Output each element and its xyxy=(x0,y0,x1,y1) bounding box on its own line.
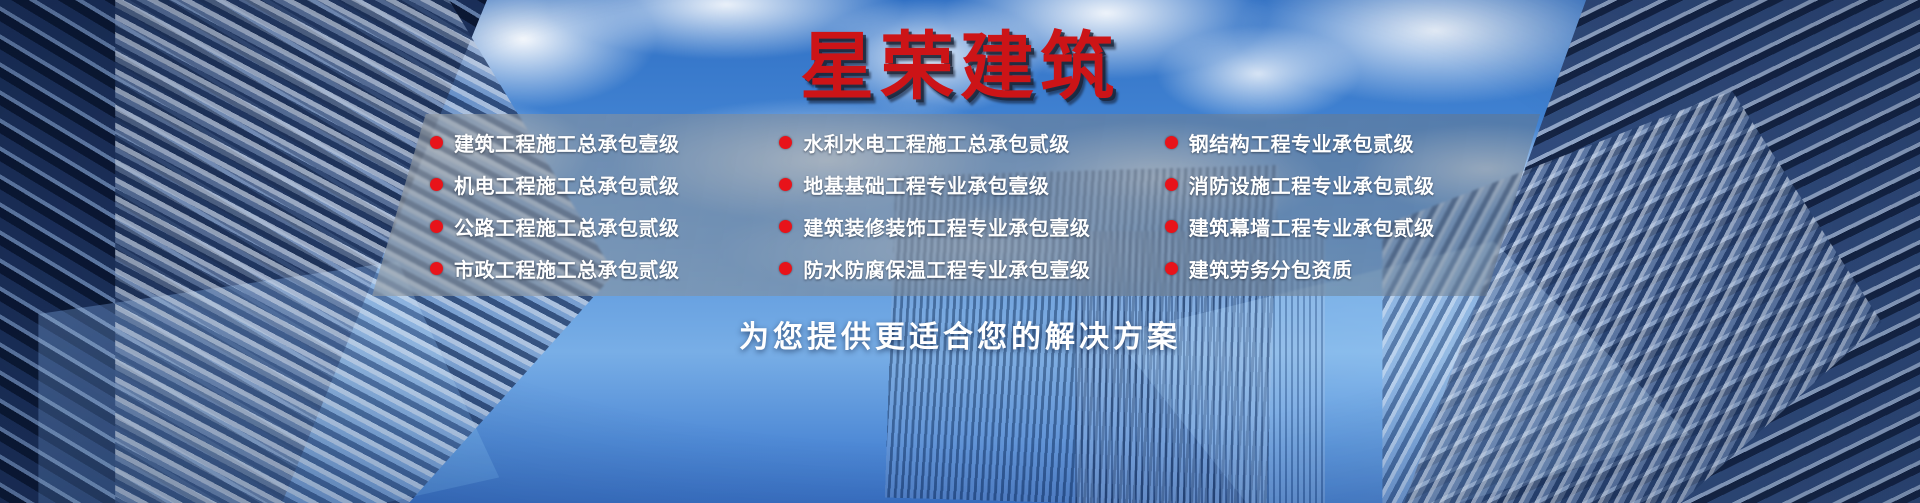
red-dot-icon xyxy=(430,136,443,149)
qualifications-panel: 建筑工程施工总承包壹级 机电工程施工总承包贰级 公路工程施工总承包贰级 市政工程… xyxy=(372,114,1540,296)
list-item[interactable]: 水利水电工程施工总承包贰级 xyxy=(779,127,1150,157)
list-item[interactable]: 消防设施工程专业承包贰级 xyxy=(1165,169,1540,199)
red-dot-icon xyxy=(779,178,792,191)
red-dot-icon xyxy=(1165,136,1178,149)
qualification-label: 防水防腐保温工程专业承包壹级 xyxy=(803,254,1090,283)
qualification-label: 消防设施工程专业承包贰级 xyxy=(1189,170,1435,199)
list-item[interactable]: 防水防腐保温工程专业承包壹级 xyxy=(779,253,1150,283)
list-item[interactable]: 建筑劳务分包资质 xyxy=(1165,253,1540,283)
red-dot-icon xyxy=(1165,220,1178,233)
qualification-label: 水利水电工程施工总承包贰级 xyxy=(803,128,1070,157)
list-item[interactable]: 建筑装修装饰工程专业承包壹级 xyxy=(779,211,1150,241)
red-dot-icon xyxy=(430,220,443,233)
qualification-label: 公路工程施工总承包贰级 xyxy=(454,212,680,241)
red-dot-icon xyxy=(779,136,792,149)
red-dot-icon xyxy=(779,220,792,233)
list-item[interactable]: 机电工程施工总承包贰级 xyxy=(430,169,761,199)
qualification-label: 钢结构工程专业承包贰级 xyxy=(1189,128,1415,157)
qualification-column-2: 水利水电工程施工总承包贰级 地基基础工程专业承包壹级 建筑装修装饰工程专业承包壹… xyxy=(761,127,1150,283)
list-item[interactable]: 地基基础工程专业承包壹级 xyxy=(779,169,1150,199)
red-dot-icon xyxy=(1165,262,1178,275)
hero-banner: 星荣建筑 建筑工程施工总承包壹级 机电工程施工总承包贰级 公路工程施工总承包贰级 xyxy=(0,0,1920,503)
list-item[interactable]: 市政工程施工总承包贰级 xyxy=(430,253,761,283)
qualification-label: 建筑劳务分包资质 xyxy=(1189,254,1353,283)
red-dot-icon xyxy=(430,262,443,275)
list-item[interactable]: 建筑幕墙工程专业承包贰级 xyxy=(1165,211,1540,241)
qualification-label: 建筑装修装饰工程专业承包壹级 xyxy=(803,212,1090,241)
list-item[interactable]: 钢结构工程专业承包贰级 xyxy=(1165,127,1540,157)
qualification-column-3: 钢结构工程专业承包贰级 消防设施工程专业承包贰级 建筑幕墙工程专业承包贰级 建筑… xyxy=(1151,127,1540,283)
qualification-label: 机电工程施工总承包贰级 xyxy=(454,170,680,199)
qualification-label: 地基基础工程专业承包壹级 xyxy=(803,170,1049,199)
red-dot-icon xyxy=(430,178,443,191)
banner-title: 星荣建筑 xyxy=(0,28,1920,106)
banner-tagline: 为您提供更适合您的解决方案 xyxy=(0,312,1920,356)
red-dot-icon xyxy=(1165,178,1178,191)
qualification-label: 市政工程施工总承包贰级 xyxy=(454,254,680,283)
list-item[interactable]: 公路工程施工总承包贰级 xyxy=(430,211,761,241)
qualifications-grid: 建筑工程施工总承包壹级 机电工程施工总承包贰级 公路工程施工总承包贰级 市政工程… xyxy=(372,114,1540,296)
qualification-label: 建筑幕墙工程专业承包贰级 xyxy=(1189,212,1435,241)
list-item[interactable]: 建筑工程施工总承包壹级 xyxy=(430,127,761,157)
qualification-column-1: 建筑工程施工总承包壹级 机电工程施工总承包贰级 公路工程施工总承包贰级 市政工程… xyxy=(372,127,761,283)
qualification-label: 建筑工程施工总承包壹级 xyxy=(454,128,680,157)
red-dot-icon xyxy=(779,262,792,275)
